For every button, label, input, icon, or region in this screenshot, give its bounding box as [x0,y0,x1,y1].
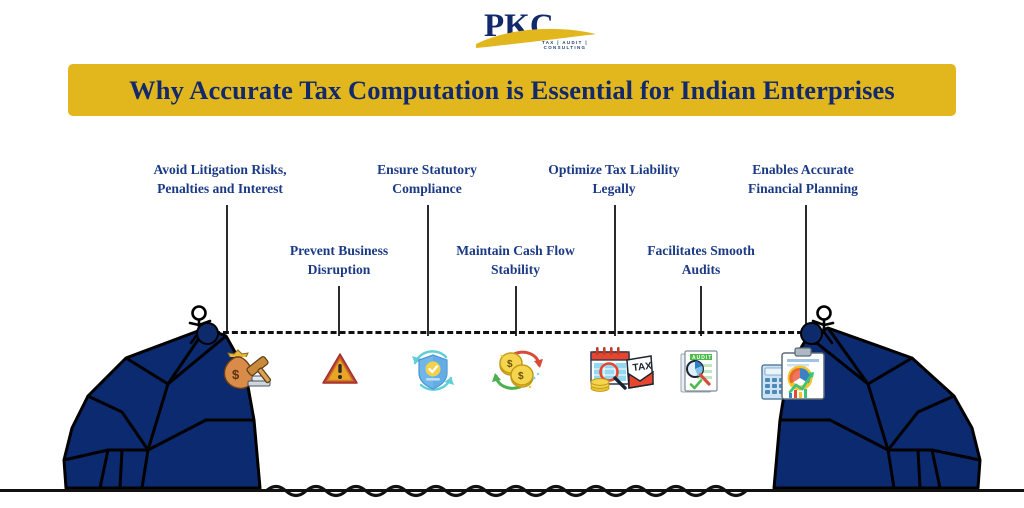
connector-line-3 [427,205,429,336]
page-title: Why Accurate Tax Computation is Essentia… [129,75,895,106]
item-label-3: Ensure Statutory Compliance [347,160,507,198]
item-label-2-line2: Disruption [259,260,419,279]
water-wave-line [266,481,758,503]
cash-flow-coins-icon: $ $ [490,347,546,395]
svg-text:$: $ [518,371,524,382]
item-label-4-line2: Stability [433,260,598,279]
left-bridge-anchor [196,322,219,345]
tax-calendar-magnifier-icon: TAX [583,344,655,396]
connector-line-5 [614,205,616,336]
shield-check-refresh-icon [406,348,460,394]
connector-line-2 [338,286,340,336]
money-bag-gavel-icon: $ [212,345,274,397]
item-label-1: Avoid Litigation Risks, Penalties and In… [130,160,310,198]
item-label-7-line2: Financial Planning [723,179,883,198]
item-label-1-line1: Avoid Litigation Risks, [153,162,286,177]
item-label-5-line1: Optimize Tax Liability [548,162,679,177]
item-label-3-line1: Ensure Statutory [377,162,477,177]
item-label-7: Enables Accurate Financial Planning [723,160,883,198]
connector-line-6 [700,286,702,336]
item-label-1-line2: Penalties and Interest [130,179,310,198]
item-label-5-line2: Legally [529,179,699,198]
svg-text:$: $ [507,359,513,370]
infographic-canvas: PKC TAX | AUDIT | CONSULTING Why Accurat… [0,0,1024,508]
item-label-7-line1: Enables Accurate [752,162,854,177]
right-bridge-anchor [800,322,823,345]
pkc-logo-tagline: TAX | AUDIT | CONSULTING [520,40,610,50]
financial-planning-clipboard-icon [760,345,832,403]
connector-line-4 [515,286,517,336]
item-label-6-line1: Facilitates Smooth [647,243,755,258]
item-label-3-line2: Compliance [347,179,507,198]
item-label-6: Facilitates Smooth Audits [621,241,781,279]
audit-document-magnifier-icon: AUDIT [678,348,724,394]
item-label-2: Prevent Business Disruption [259,241,419,279]
item-label-2-line1: Prevent Business [290,243,388,258]
item-label-5: Optimize Tax Liability Legally [529,160,699,198]
item-label-4: Maintain Cash Flow Stability [433,241,598,279]
title-banner: Why Accurate Tax Computation is Essentia… [68,64,956,116]
svg-text:$: $ [232,367,240,382]
item-label-4-line1: Maintain Cash Flow [456,243,575,258]
item-label-6-line2: Audits [621,260,781,279]
warning-triangle-icon [321,351,359,387]
